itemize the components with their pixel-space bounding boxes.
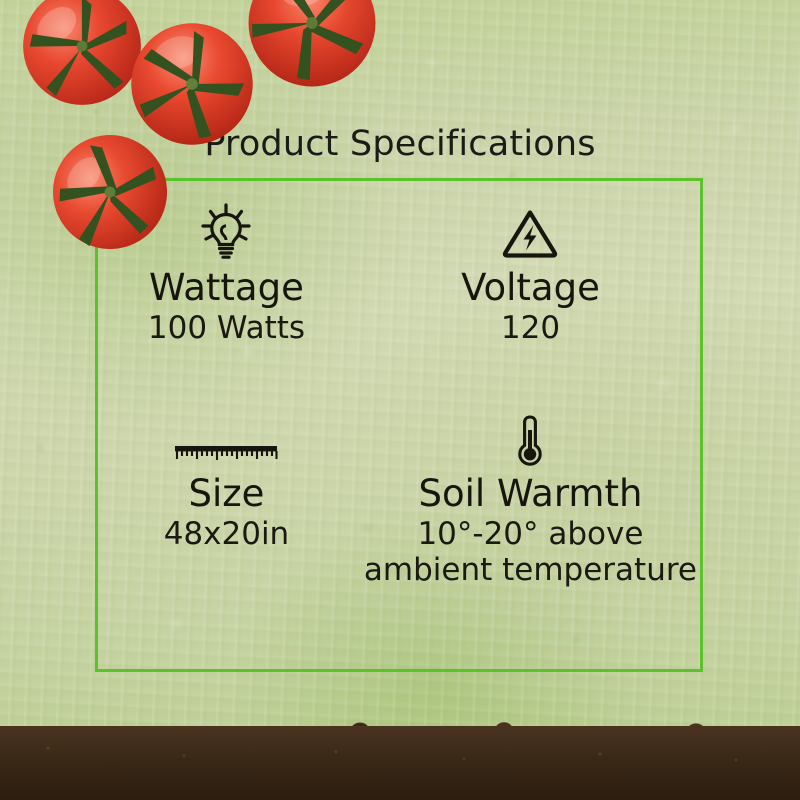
- spec-value-line: ambient temperature: [364, 552, 697, 589]
- spec-label: Size: [188, 474, 264, 514]
- ruler-icon: [173, 420, 279, 466]
- product-spec-graphic: Product Specifications: [0, 0, 800, 800]
- spec-item-voltage: Voltage 120: [358, 198, 703, 386]
- high-voltage-warning-icon: [501, 198, 559, 260]
- tomato-left-lower: [48, 130, 172, 254]
- spec-item-soil-warmth: Soil Warmth 10°-20° above ambient temper…: [358, 420, 703, 628]
- tomato-top-right: [243, 0, 381, 92]
- spec-value-line: 10°-20° above: [364, 516, 697, 553]
- spec-value-line: 48x20in: [164, 516, 290, 553]
- spec-value: 100 Watts: [148, 310, 305, 347]
- spec-value: 120: [501, 310, 560, 347]
- spec-label: Soil Warmth: [419, 474, 643, 514]
- lightbulb-icon: [198, 198, 254, 260]
- spec-label: Voltage: [461, 268, 600, 308]
- soil-grain: [0, 726, 800, 800]
- spec-value-line: 100 Watts: [148, 310, 305, 347]
- spec-grid: Wattage 100 Watts Voltage 120: [95, 198, 703, 628]
- spec-value: 10°-20° above ambient temperature: [364, 516, 697, 589]
- spec-value-line: 120: [501, 310, 560, 347]
- thermometer-icon: [515, 420, 545, 466]
- spec-value: 48x20in: [164, 516, 290, 553]
- spec-item-size: Size 48x20in: [95, 420, 358, 628]
- spec-label: Wattage: [149, 268, 304, 308]
